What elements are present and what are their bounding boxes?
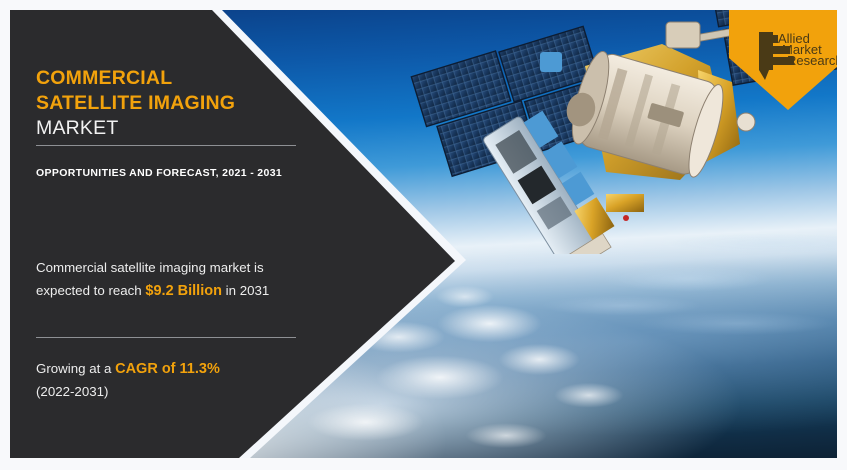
market-value-statement: Commercial satellite imaging market is e… xyxy=(36,257,308,302)
cagr-statement: Growing at a CAGR of 11.3%(2022-2031) xyxy=(36,358,308,403)
market-value-figure: $9.2 Billion xyxy=(145,283,222,299)
page-title: COMMERCIAL SATELLITE IMAGING MARKET xyxy=(36,66,316,141)
subtitle: OPPORTUNITIES AND FORECAST, 2021 - 2031 xyxy=(36,165,304,181)
title-line-2: SATELLITE IMAGING xyxy=(36,91,316,116)
cagr-figure: CAGR of 11.3% xyxy=(115,361,220,377)
market-report-banner: COMMERCIAL SATELLITE IMAGING MARKET OPPO… xyxy=(10,10,837,458)
cagr-prefix: Growing at a xyxy=(36,361,115,376)
logo-line-3: Research xyxy=(787,53,837,68)
cagr-period: (2022-2031) xyxy=(36,384,108,399)
divider-top xyxy=(36,145,296,146)
divider-bottom xyxy=(36,337,296,338)
market-value-suffix: in 2031 xyxy=(222,283,269,298)
title-line-1: COMMERCIAL xyxy=(36,66,316,91)
title-line-3: MARKET xyxy=(36,116,316,141)
allied-market-research-logo[interactable]: Allied Market Research xyxy=(729,10,837,110)
